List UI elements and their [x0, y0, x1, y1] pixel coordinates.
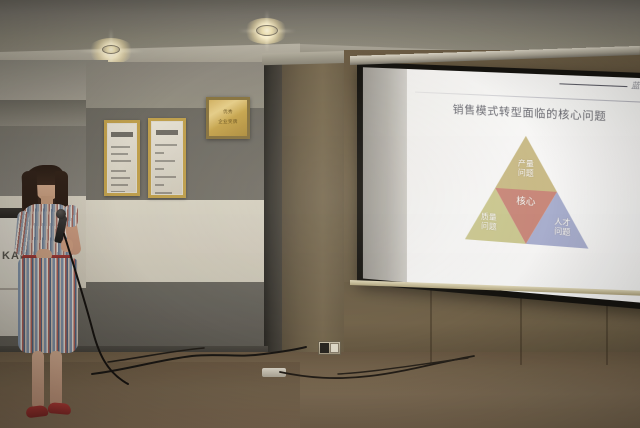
presenter-left-shoe: [25, 405, 48, 419]
slide-header-rule: [559, 83, 627, 87]
certificate-right-title: [156, 130, 179, 135]
wall-column-face: [278, 56, 350, 362]
projection-screen-surface: 蓝光日 销售模式转型面临的核心问题 产量 问题 核心 质量 问题: [363, 67, 640, 304]
certificate-left-title: [111, 132, 132, 137]
certificate-left-paper: [108, 124, 136, 192]
slide-title: 销售模式转型面临的核心问题: [407, 99, 640, 126]
slide-brand-text: 蓝光日: [631, 80, 640, 93]
pyramid-diagram: 产量 问题 核心 质量 问题 人才 问题: [465, 133, 589, 249]
wood-seam-5: [520, 287, 522, 365]
pyramid-label-bottom-left: 质量 问题: [468, 211, 510, 233]
certificate-right-paper: [152, 122, 182, 194]
framed-certificate-left: [104, 120, 140, 196]
presenter-left-leg: [32, 351, 44, 409]
pyramid-label-bottom-right: 人才 问题: [541, 216, 584, 238]
ceiling-light-left-rim: [102, 45, 120, 54]
floor-cable-right: [278, 350, 478, 392]
presenter-right-shoe: [48, 402, 72, 415]
brass-plaque-line2: 企业奖牌: [209, 118, 247, 125]
framed-certificate-right: [148, 118, 186, 198]
wall-column-cap: [262, 51, 354, 65]
microphone-cable: [58, 232, 148, 392]
brass-award-plaque: 优秀 企业奖牌: [206, 97, 250, 139]
screen-unlit-margin: [363, 67, 407, 282]
presentation-slide: 蓝光日 销售模式转型面临的核心问题 产量 问题 核心 质量 问题: [407, 69, 640, 304]
pyramid-label-top: 产量 问题: [499, 157, 552, 179]
photo-scene: 优秀 企业奖牌 蓝光日 销售模式转型面临的核心问题: [0, 0, 640, 428]
brass-plaque-line1: 优秀: [209, 108, 247, 115]
ceiling-light-right-rim: [256, 25, 278, 36]
projection-screen[interactable]: 蓝光日 销售模式转型面临的核心问题 产量 问题 核心 质量 问题: [357, 62, 640, 311]
wall-column-dark-edge: [264, 60, 282, 360]
